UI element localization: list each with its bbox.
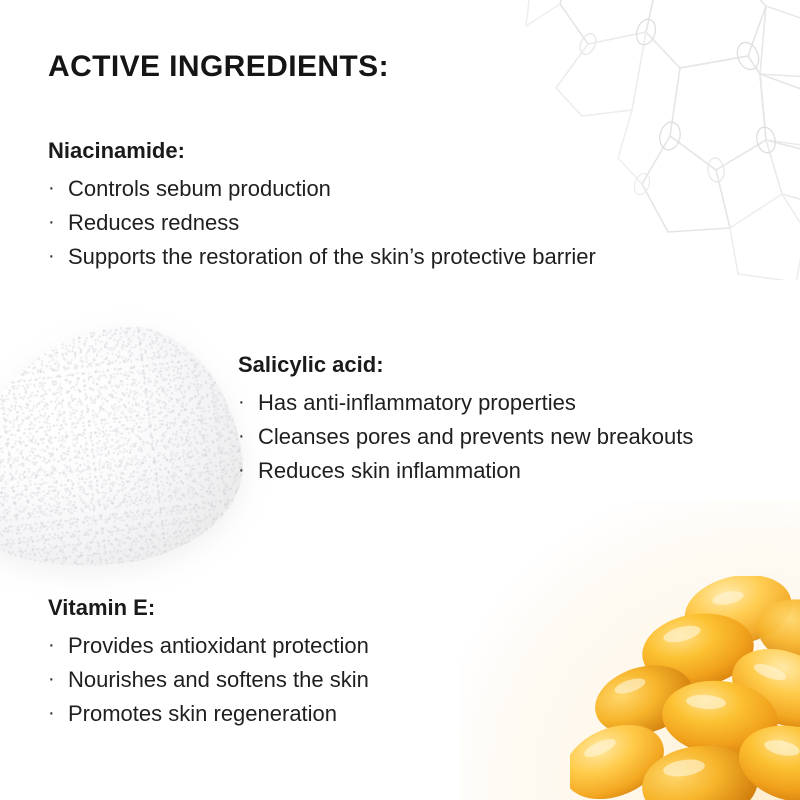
benefit-item: · Nourishes and softens the skin <box>48 665 608 696</box>
ingredients-infographic: ACTIVE INGREDIENTS: Niacinamide: · Contr… <box>0 0 800 800</box>
benefit-text: Promotes skin regeneration <box>68 699 608 730</box>
ingredient-block-niacinamide: Niacinamide: · Controls sebum production… <box>48 138 608 275</box>
bullet-icon: · <box>48 699 68 727</box>
benefit-list: · Has anti-inflammatory properties · Cle… <box>238 388 778 486</box>
benefit-text: Reduces redness <box>68 208 608 239</box>
benefit-list: · Provides antioxidant protection · Nour… <box>48 631 608 729</box>
ingredient-name: Vitamin E: <box>48 595 608 621</box>
benefit-text: Provides antioxidant protection <box>68 631 608 662</box>
benefit-text: Nourishes and softens the skin <box>68 665 608 696</box>
bullet-icon: · <box>238 388 258 416</box>
benefit-item: · Has anti-inflammatory properties <box>238 388 778 419</box>
benefit-item: · Controls sebum production <box>48 174 608 205</box>
benefit-item: · Cleanses pores and prevents new breako… <box>238 422 778 453</box>
benefit-item: · Reduces redness <box>48 208 608 239</box>
ingredient-name: Salicylic acid: <box>238 352 778 378</box>
benefit-text: Has anti-inflammatory properties <box>258 388 778 419</box>
bullet-icon: · <box>48 208 68 236</box>
bullet-icon: · <box>48 174 68 202</box>
page-title: ACTIVE INGREDIENTS: <box>48 50 389 84</box>
benefit-item: · Reduces skin inflammation <box>238 456 778 487</box>
ingredient-name: Niacinamide: <box>48 138 608 164</box>
ingredient-block-salicylic-acid: Salicylic acid: · Has anti-inflammatory … <box>238 352 778 489</box>
benefit-text: Controls sebum production <box>68 174 608 205</box>
benefit-list: · Controls sebum production · Reduces re… <box>48 174 608 272</box>
bullet-icon: · <box>238 456 258 484</box>
ingredient-block-vitamin-e: Vitamin E: · Provides antioxidant protec… <box>48 595 608 732</box>
benefit-text: Reduces skin inflammation <box>258 456 778 487</box>
bullet-icon: · <box>48 631 68 659</box>
bullet-icon: · <box>48 242 68 270</box>
benefit-item: · Provides antioxidant protection <box>48 631 608 662</box>
bullet-icon: · <box>238 422 258 450</box>
benefit-item: · Promotes skin regeneration <box>48 699 608 730</box>
benefit-text: Supports the restoration of the skin’s p… <box>68 242 608 273</box>
benefit-text: Cleanses pores and prevents new breakout… <box>258 422 778 453</box>
bullet-icon: · <box>48 665 68 693</box>
benefit-item: · Supports the restoration of the skin’s… <box>48 242 608 273</box>
